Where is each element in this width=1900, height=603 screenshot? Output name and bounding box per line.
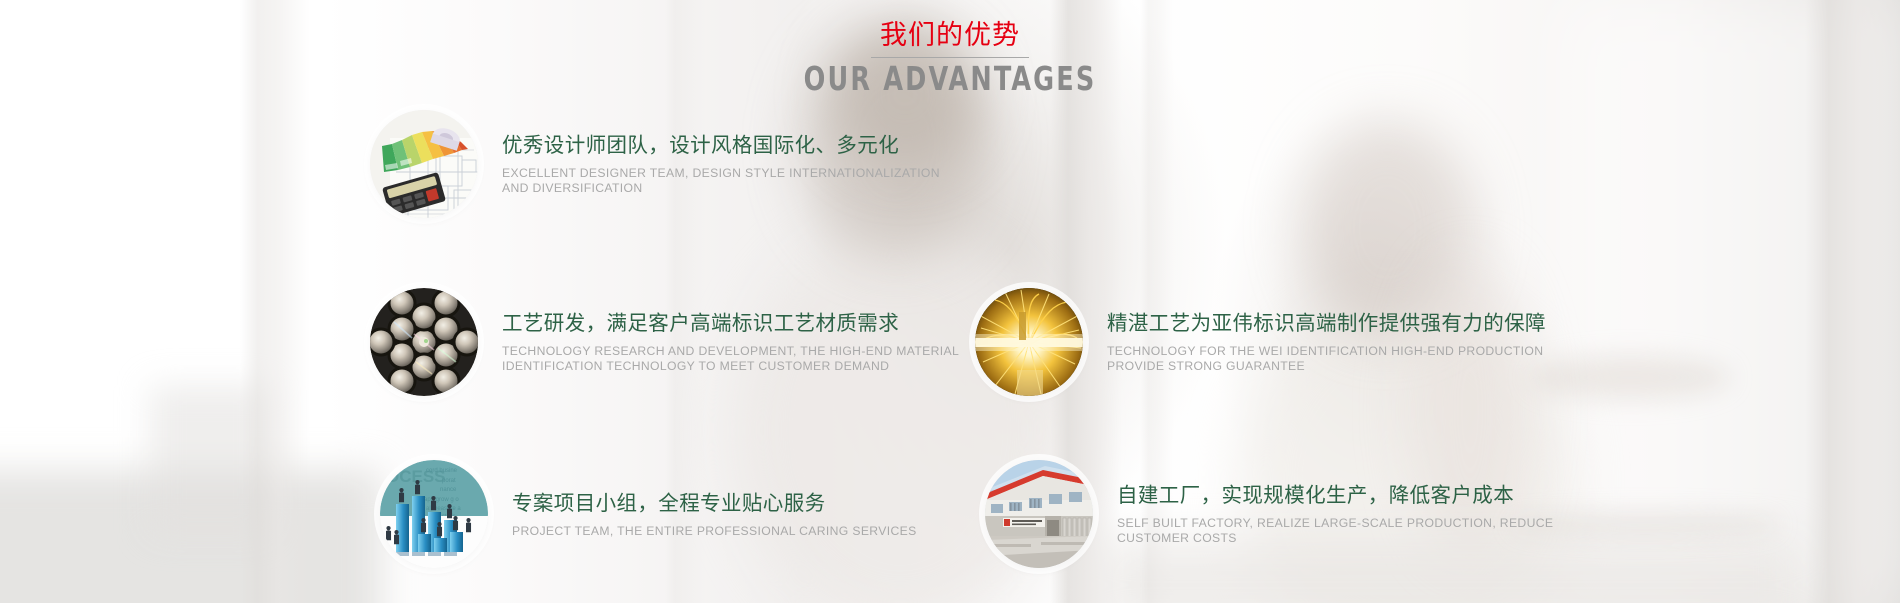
background-smudge-upper bbox=[1530, 355, 1730, 400]
advantage-title-cn: 自建工厂，实现规模化生产，降低客户成本 bbox=[1117, 482, 1553, 510]
color-swatch-blueprint-icon bbox=[370, 110, 478, 218]
advantage-copy: 专案项目小组，全程专业贴心服务 PROJECT TEAM, THE ENTIRE… bbox=[512, 490, 917, 539]
advantage-item-project-team[interactable]: OCESS cord busine porat nance aph grow g… bbox=[380, 460, 917, 568]
advantage-title-en: PROJECT TEAM, THE ENTIRE PROFESSIONAL CA… bbox=[512, 524, 917, 539]
title-divider bbox=[871, 57, 1029, 58]
welding-sparks-icon bbox=[975, 288, 1083, 396]
advantage-copy: 优秀设计师团队，设计风格国际化、多元化 EXCELLENT DESIGNER T… bbox=[502, 132, 940, 196]
advantage-title-en: EXCELLENT DESIGNER TEAM, DESIGN STYLE IN… bbox=[502, 166, 940, 196]
advantage-item-craftsmanship[interactable]: 精湛工艺为亚伟标识高端制作提供强有力的保障 TECHNOLOGY FOR THE… bbox=[975, 288, 1546, 396]
advantage-title-en: TECHNOLOGY RESEARCH AND DEVELOPMENT, THE… bbox=[502, 344, 959, 374]
svg-text:nance: nance bbox=[440, 487, 457, 493]
page-title-cn: 我们的优势 bbox=[0, 18, 1900, 52]
advantage-title-cn: 专案项目小组，全程专业贴心服务 bbox=[512, 490, 917, 518]
svg-text:aph grow g o: aph grow g o bbox=[424, 497, 459, 503]
advantage-item-designer-team[interactable]: 优秀设计师团队，设计风格国际化、多元化 EXCELLENT DESIGNER T… bbox=[370, 110, 940, 218]
section-header: 我们的优势 OUR ADVANTAGES bbox=[0, 18, 1900, 98]
page-title-en: OUR ADVANTAGES bbox=[133, 60, 1767, 98]
svg-text:cord busine: cord busine bbox=[426, 468, 458, 474]
advantage-copy: 工艺研发，满足客户高端标识工艺材质需求 TECHNOLOGY RESEARCH … bbox=[502, 310, 959, 374]
advantage-title-en: SELF BUILT FACTORY, REALIZE LARGE-SCALE … bbox=[1117, 516, 1553, 546]
advantage-title-cn: 工艺研发，满足客户高端标识工艺材质需求 bbox=[502, 310, 959, 338]
business-growth-chart-icon: OCESS cord busine porat nance aph grow g… bbox=[380, 460, 488, 568]
advantage-title-cn: 优秀设计师团队，设计风格国际化、多元化 bbox=[502, 132, 940, 160]
advantage-item-own-factory[interactable]: 自建工厂，实现规模化生产，降低客户成本 SELF BUILT FACTORY, … bbox=[985, 460, 1553, 568]
advantage-copy: 精湛工艺为亚伟标识高端制作提供强有力的保障 TECHNOLOGY FOR THE… bbox=[1107, 310, 1546, 374]
metal-tubes-icon bbox=[370, 288, 478, 396]
svg-text:porat: porat bbox=[442, 478, 456, 484]
advantage-title-cn: 精湛工艺为亚伟标识高端制作提供强有力的保障 bbox=[1107, 310, 1546, 338]
factory-building-icon bbox=[985, 460, 1093, 568]
advantage-copy: 自建工厂，实现规模化生产，降低客户成本 SELF BUILT FACTORY, … bbox=[1117, 482, 1553, 546]
advantage-item-technology-rnd[interactable]: 工艺研发，满足客户高端标识工艺材质需求 TECHNOLOGY RESEARCH … bbox=[370, 288, 959, 396]
advantage-title-en: TECHNOLOGY FOR THE WEI IDENTIFICATION HI… bbox=[1107, 344, 1546, 374]
